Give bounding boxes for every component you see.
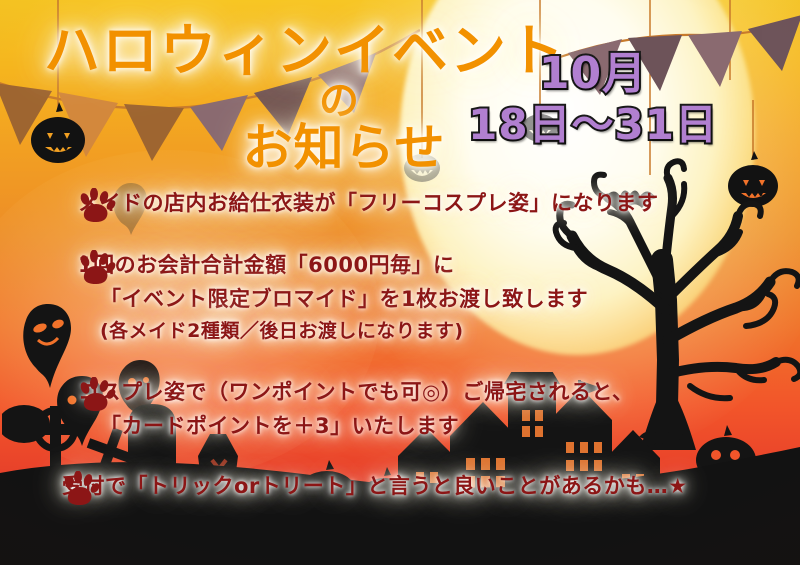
title-line-1: ハロウィンイベント bbox=[44, 24, 514, 80]
event-detail-item: 受付で「トリックorトリート」と言うと良いことがあるかも…★ bbox=[0, 469, 800, 503]
event-day-range: 18日〜31日 bbox=[468, 100, 718, 150]
event-detail-note: (各メイド2種類／後日お渡しになります) bbox=[78, 316, 800, 347]
event-details-list: メイドの店内お給仕衣装が「フリーコスプレ姿」になります 1回のお会計合計金額「6… bbox=[0, 186, 800, 519]
title-line-2: の bbox=[44, 80, 514, 122]
event-date-block: 10月 18日〜31日 bbox=[468, 48, 718, 149]
event-detail-line: 「イベント限定ブロマイド」を1枚お渡し致します bbox=[78, 282, 800, 316]
paw-print-icon bbox=[76, 188, 116, 224]
paw-print-icon bbox=[76, 377, 116, 413]
halloween-event-poster: ハロウィンイベント の お知らせ 10月 18日〜31日 メイドの店内お給仕衣装… bbox=[0, 0, 800, 565]
paw-print-icon bbox=[60, 471, 100, 507]
event-detail-line: コスプレ姿で（ワンポイントでも可◎）ご帰宅されると、 bbox=[78, 375, 800, 409]
event-detail-line: 「カードポイントを＋3」いたします bbox=[78, 409, 800, 443]
event-detail-line: メイドの店内お給仕衣装が「フリーコスプレ姿」になります bbox=[78, 186, 800, 220]
poster-title: ハロウィンイベント の お知らせ bbox=[44, 24, 514, 175]
event-detail-line: 1回のお会計合計金額「6000円毎」に bbox=[78, 248, 800, 282]
event-detail-line: 受付で「トリックorトリート」と言うと良いことがあるかも…★ bbox=[62, 469, 800, 503]
event-month: 10月 bbox=[468, 48, 718, 100]
event-detail-item: 1回のお会計合計金額「6000円毎」に 「イベント限定ブロマイド」を1枚お渡し致… bbox=[0, 248, 800, 347]
paw-print-icon bbox=[76, 250, 116, 286]
event-detail-item: メイドの店内お給仕衣装が「フリーコスプレ姿」になります bbox=[0, 186, 800, 220]
event-detail-item: コスプレ姿で（ワンポイントでも可◎）ご帰宅されると、 「カードポイントを＋3」い… bbox=[0, 375, 800, 443]
title-line-3: お知らせ bbox=[44, 122, 514, 175]
